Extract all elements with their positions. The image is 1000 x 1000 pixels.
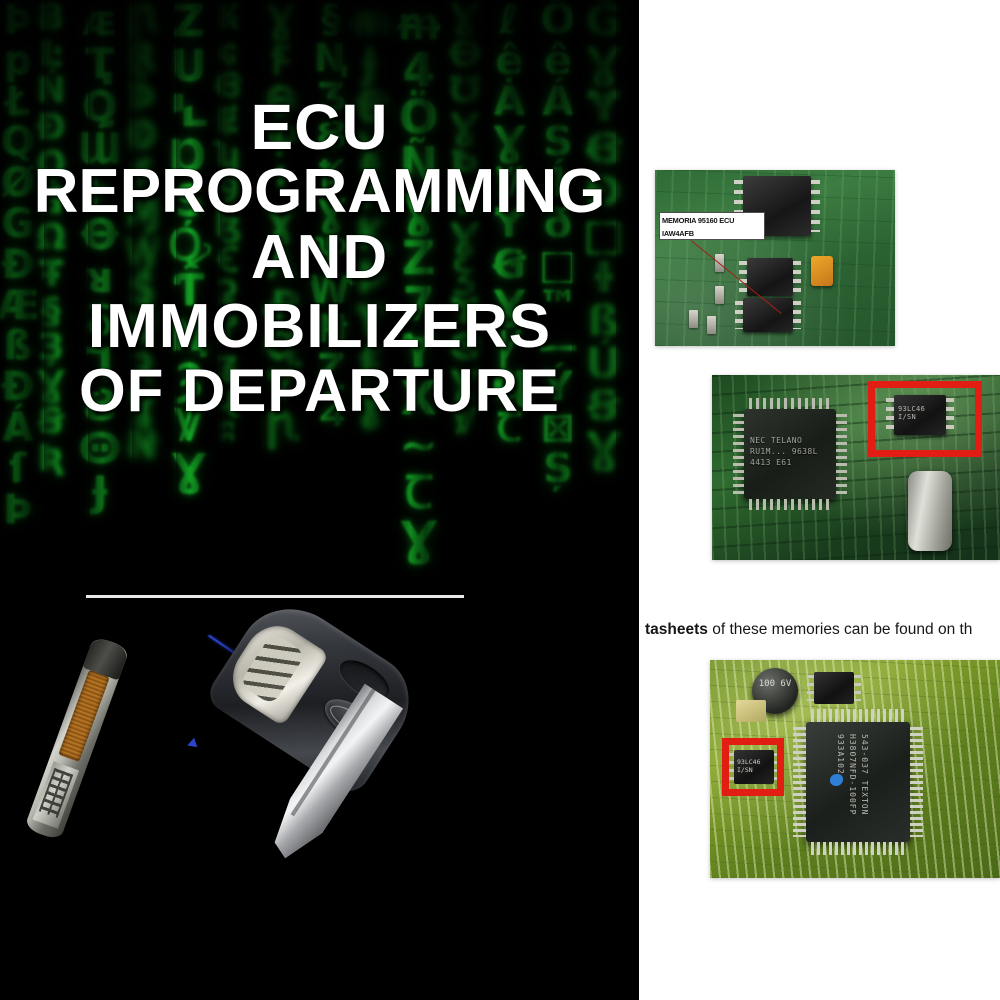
figure-ecu-board-95160: MEMORIA 95160 ECU IAW4AFB — [655, 170, 895, 346]
chip-pins-right — [836, 414, 847, 494]
callout-line-1: MEMORIA 95160 ECU — [662, 214, 762, 227]
title-line-5: OF DEPARTURE — [0, 360, 639, 421]
caption-rest: of these memories can be found on th — [708, 621, 973, 638]
resistor — [707, 316, 716, 334]
nec-microcontroller: NEC TELANO RU1M... 9638L 4413 E61 — [744, 409, 836, 499]
chip-pins-bottom — [749, 499, 831, 510]
title-line-2: REPROGRAMMING — [0, 160, 639, 223]
title-divider — [86, 595, 464, 598]
nec-chip-marking: NEC TELANO RU1M... 9638L 4413 E61 — [750, 435, 834, 468]
title-line-4: IMMOBILIZERS — [0, 295, 639, 358]
chip-pins-top — [811, 709, 905, 722]
title-line-3: AND — [0, 226, 639, 289]
chip-pins-left — [793, 727, 806, 837]
cover-panel: Þ p Ł Q Ø G Ð Æ ß Ð Á ſ Þ Ƀ Ŀ Ń Đ Ǫ Ǝ Ω … — [0, 0, 639, 1000]
resistor — [689, 310, 698, 328]
yellow-capacitor — [736, 700, 766, 722]
figure-nec-board-93lc46: NEC TELANO RU1M... 9638L 4413 E61 93LC46… — [712, 375, 1000, 560]
callout-label-95160: MEMORIA 95160 ECU IAW4AFB — [659, 212, 765, 240]
resistor — [715, 286, 724, 304]
texton-h8-microcontroller: 543-037 TEXTON H3807NFD-100FP 933A102 — [806, 722, 910, 842]
document-panel: MEMORIA 95160 ECU IAW4AFB NEC TELANO RU1… — [639, 0, 1000, 1000]
electrolytic-capacitor — [908, 471, 952, 551]
callout-line-2: IAW4AFB — [662, 227, 762, 240]
pointer-arrow-head — [186, 738, 198, 750]
caption-bold: tasheets — [645, 621, 708, 638]
product-image-composite: Þ p Ł Q Ø G Ð Æ ß Ð Á ſ Þ Ƀ Ŀ Ń Đ Ǫ Ǝ Ω … — [0, 0, 1000, 1000]
red-highlight-box — [722, 738, 784, 796]
title-line-1: ECU — [0, 95, 639, 160]
cover-title: ECU REPROGRAMMING AND IMMOBILIZERS OF DE… — [0, 95, 639, 421]
red-highlight-box-edges — [868, 381, 982, 457]
figure-texton-board-93lc46: 100 6V 543-037 TEXTON H3807NFD-100FP 933… — [710, 660, 1000, 878]
chip-pins-bottom — [811, 842, 905, 855]
chip-pins-right — [910, 727, 923, 837]
soic-chip-top — [814, 672, 854, 704]
chip-pins-left — [733, 414, 744, 494]
orange-capacitor — [811, 256, 833, 286]
chip-pins-top — [749, 398, 831, 409]
figure-caption: tasheets of these memories can be found … — [645, 620, 1000, 640]
transponder-slot — [221, 614, 330, 726]
transponder-key-photo — [75, 600, 575, 930]
